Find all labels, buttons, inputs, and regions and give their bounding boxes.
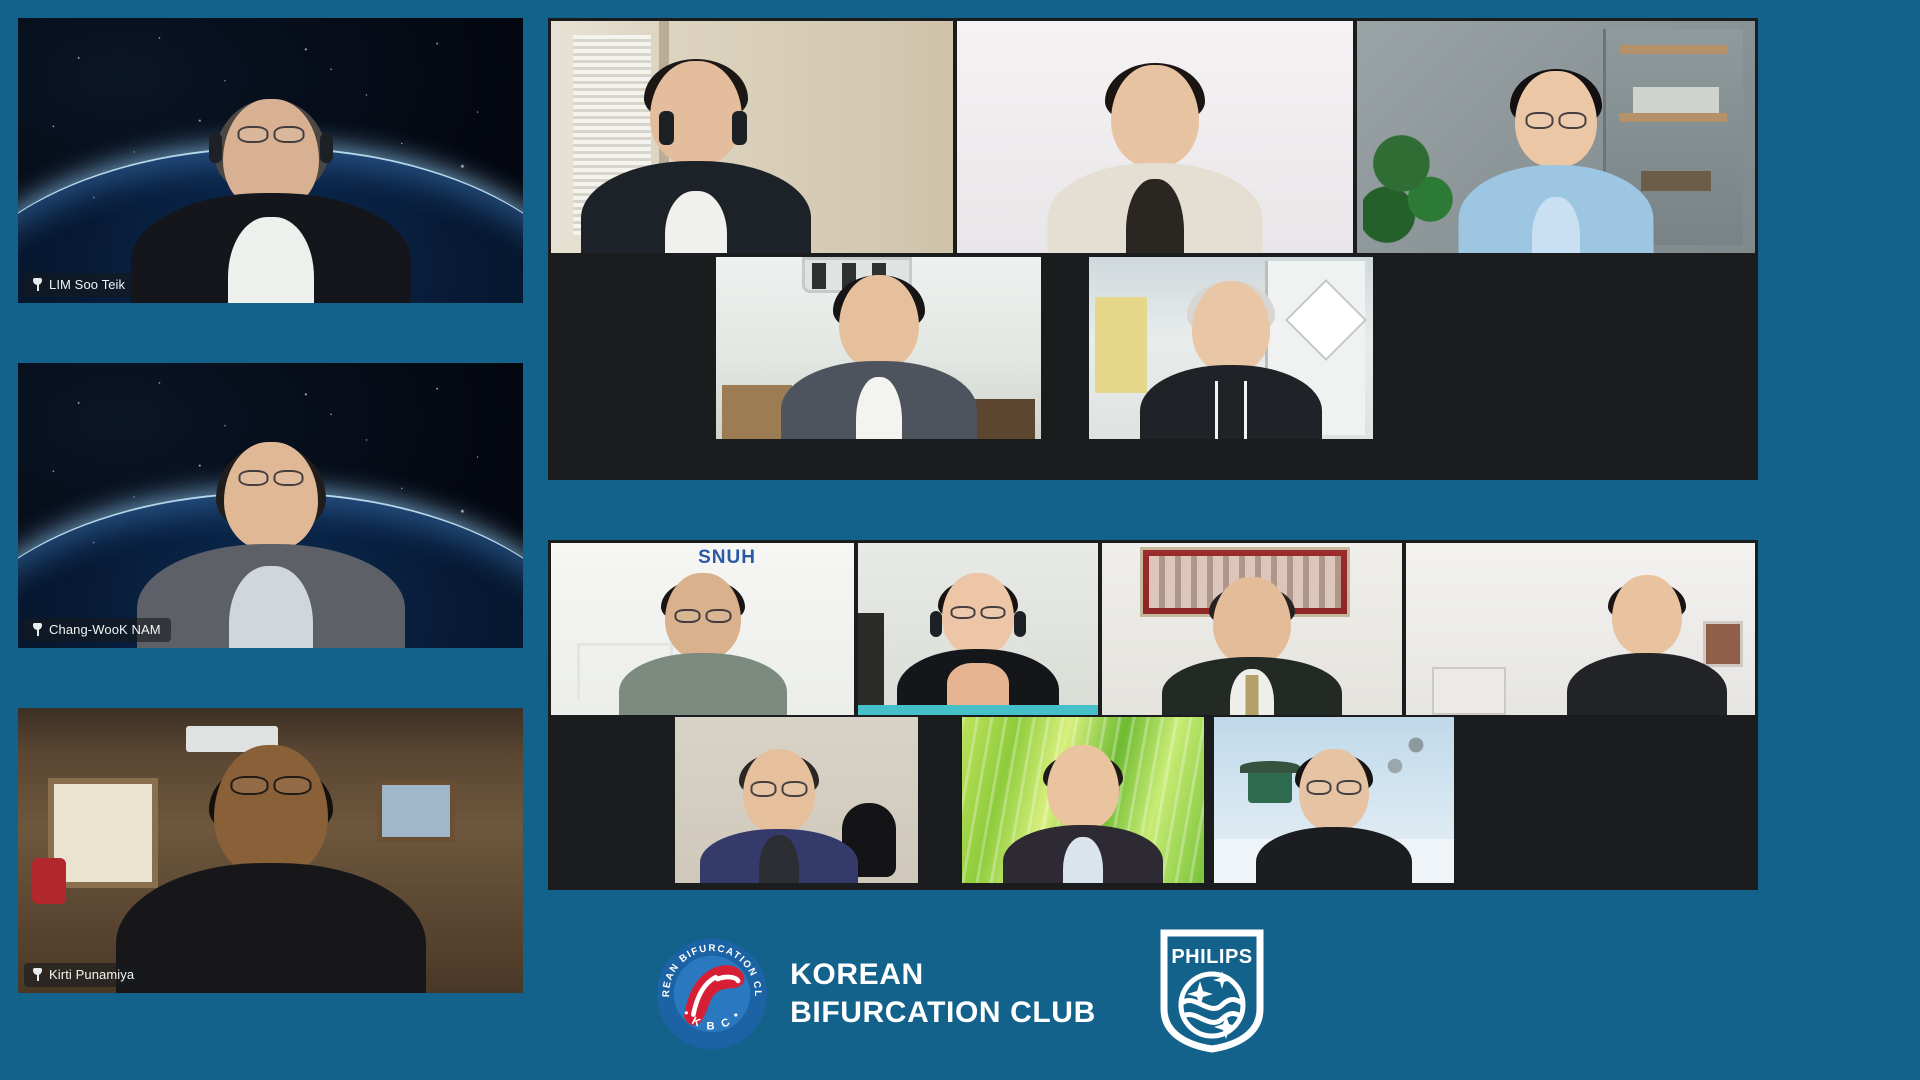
gallery-panel-top (548, 18, 1758, 480)
pin-icon (32, 278, 43, 291)
video-tile-pinned-2[interactable]: Chang-WooK NAM (18, 363, 523, 648)
video-tile-pinned-1[interactable]: LIM Soo Teik (18, 18, 523, 303)
pinned-speaker-column: LIM Soo Teik Chang-WooK NAM (18, 18, 523, 993)
video-tile[interactable] (957, 21, 1354, 253)
gallery-top-row-2 (551, 253, 1755, 477)
pin-icon (32, 623, 43, 636)
desk-papers (1432, 667, 1506, 715)
participant-video-figure (18, 363, 523, 648)
empty-gap (918, 715, 962, 887)
gallery-bottom-row-1: SNUH (551, 543, 1755, 715)
gallery-top-row-1 (551, 21, 1755, 253)
philips-wordmark: PHILIPS (1171, 946, 1252, 968)
gallery-bottom-row-2 (551, 715, 1755, 887)
video-tile[interactable] (551, 21, 953, 253)
kbc-circular-logo-icon: KOREAN BIFURCATION CLUB • K B C • (656, 938, 768, 1050)
participant-name-badge: LIM Soo Teik (24, 273, 135, 297)
empty-gap (1041, 253, 1089, 477)
kbc-wordmark: KOREAN BIFURCATION CLUB (790, 956, 1096, 1030)
footer-logo-bar: KOREAN BIFURCATION CLUB • K B C • KOREAN… (0, 929, 1920, 1058)
video-tile[interactable] (1089, 257, 1373, 439)
video-tile[interactable] (675, 717, 918, 883)
kbc-logo: KOREAN BIFURCATION CLUB • K B C • KOREAN… (656, 938, 1096, 1050)
empty-gap (551, 253, 716, 477)
video-tile[interactable] (1406, 543, 1755, 715)
video-tile[interactable] (962, 717, 1204, 883)
gallery-panel-bottom: SNUH (548, 540, 1758, 890)
video-tile[interactable] (1102, 543, 1402, 715)
video-tile[interactable]: SNUH (551, 543, 854, 715)
participant-name: Chang-WooK NAM (49, 623, 161, 636)
video-tile[interactable] (1214, 717, 1454, 883)
video-tile[interactable] (1357, 21, 1755, 253)
video-tile[interactable] (716, 257, 1041, 439)
empty-gap (551, 715, 675, 887)
participant-video-figure (18, 18, 523, 303)
empty-gap (1373, 253, 1755, 477)
participant-name-badge: Chang-WooK NAM (24, 618, 171, 642)
participant-name: LIM Soo Teik (49, 278, 125, 291)
empty-gap (1204, 715, 1214, 887)
kbc-wordmark-line1: KOREAN (790, 956, 1096, 993)
empty-gap (1454, 715, 1755, 887)
video-tile[interactable] (858, 543, 1098, 715)
kbc-wordmark-line2: BIFURCATION CLUB (790, 994, 1096, 1031)
philips-logo: PHILIPS (1160, 929, 1264, 1058)
